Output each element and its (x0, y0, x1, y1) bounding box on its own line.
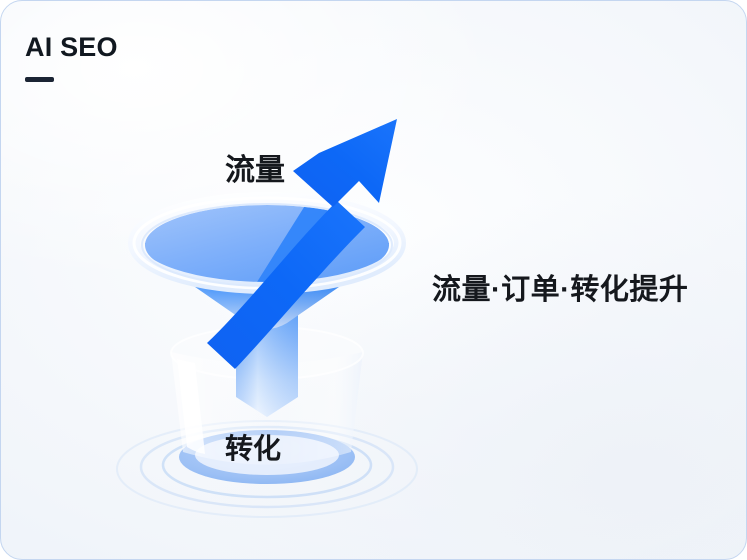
illustration-card: AI SEO 流量·订单·转化提升 (0, 0, 747, 560)
title-underline-rule (25, 77, 54, 82)
funnel-caption-conversion: 转化 (225, 435, 281, 463)
page-title: AI SEO (25, 34, 118, 61)
title-block: AI SEO (25, 34, 118, 82)
headline-text: 流量·订单·转化提升 (432, 276, 688, 305)
funnel-caption-traffic: 流量 (225, 156, 285, 186)
